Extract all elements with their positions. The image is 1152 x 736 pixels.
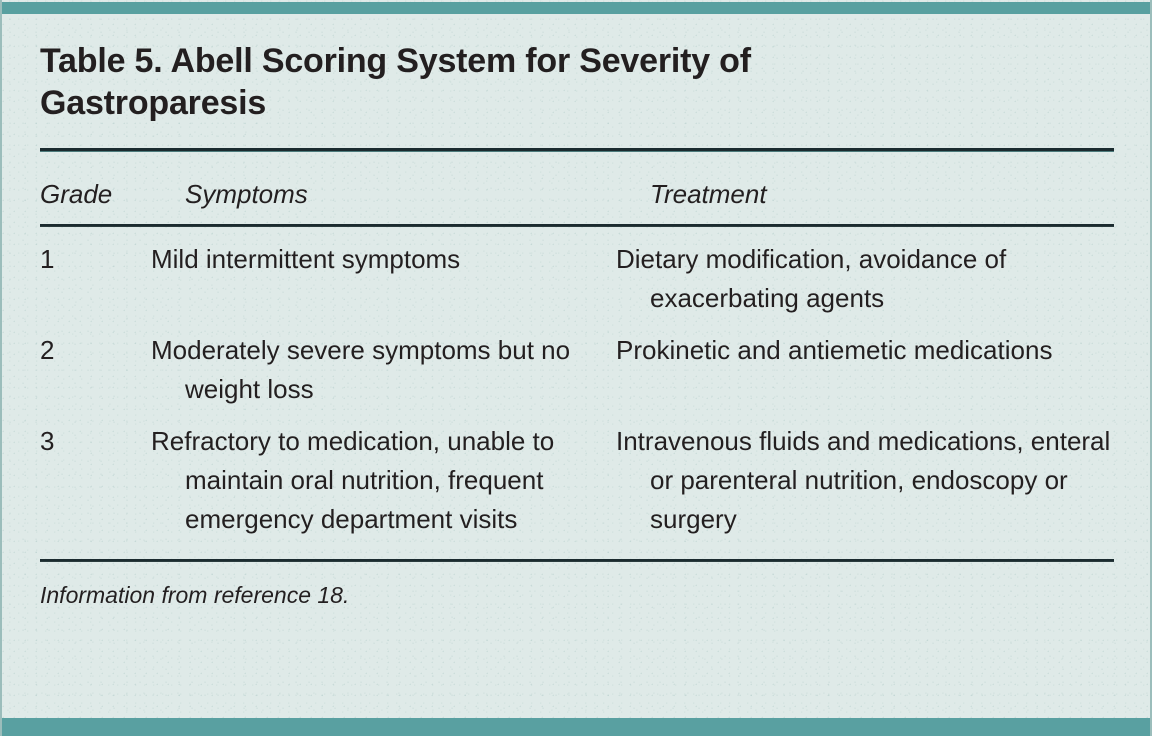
bottom-accent-bar xyxy=(2,718,1150,736)
abell-scoring-table: Grade Symptoms Treatment xyxy=(40,152,1114,224)
cell-symptoms: Refractory to medication, unable to main… xyxy=(185,409,650,559)
table-title: Table 5. Abell Scoring System for Severi… xyxy=(40,14,870,124)
table-row: 2 Moderately severe symptoms but no weig… xyxy=(40,318,1114,409)
table-header: Grade Symptoms Treatment xyxy=(40,152,1114,224)
table-header-row: Grade Symptoms Treatment xyxy=(40,152,1114,224)
column-header-symptoms: Symptoms xyxy=(185,152,650,224)
table-row: 3 Refractory to medication, unable to ma… xyxy=(40,409,1114,559)
cell-treatment: Intravenous fluids and medications, ente… xyxy=(650,409,1114,559)
figure-content: Table 5. Abell Scoring System for Severi… xyxy=(40,14,1114,610)
abell-scoring-body: 1 Mild intermittent symptoms Dietary mod… xyxy=(40,227,1114,559)
cell-symptoms: Mild intermittent symptoms xyxy=(185,227,650,318)
table-figure: Table 5. Abell Scoring System for Severi… xyxy=(0,0,1152,736)
cell-symptoms: Moderately severe symptoms but no weight… xyxy=(185,318,650,409)
column-header-treatment: Treatment xyxy=(650,152,1114,224)
table-row: 1 Mild intermittent symptoms Dietary mod… xyxy=(40,227,1114,318)
cell-treatment: Dietary modification, avoidance of exace… xyxy=(650,227,1114,318)
cell-treatment: Prokinetic and antiemetic medications xyxy=(650,318,1114,409)
table-footnote: Information from reference 18. xyxy=(40,562,1114,610)
top-accent-bar xyxy=(2,2,1150,14)
column-header-grade: Grade xyxy=(40,152,185,224)
